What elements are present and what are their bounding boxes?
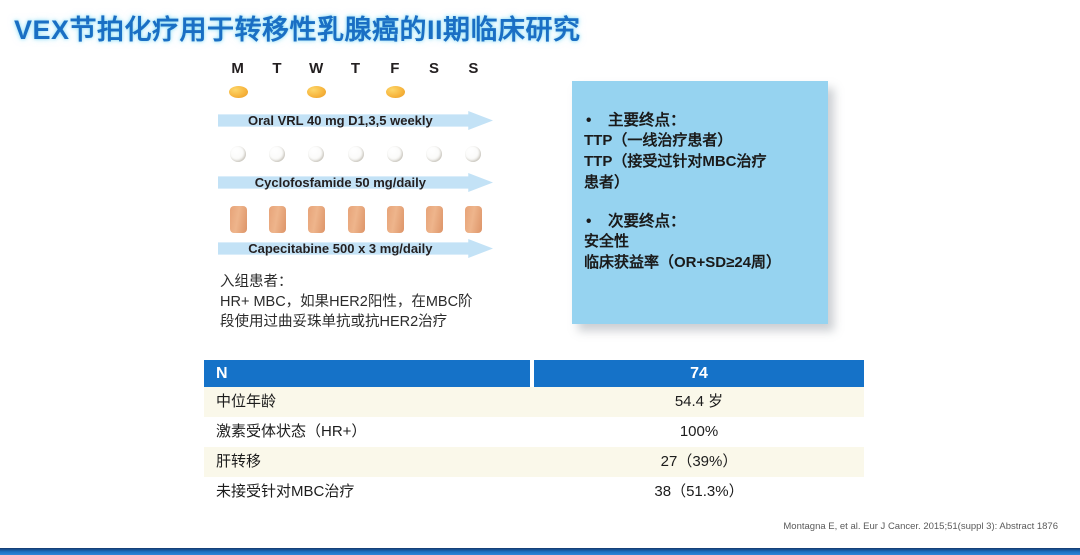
endpoints-callout-box: •主要终点： TTP（一线治疗患者） TTP（接受过针对MBC治疗 患者） •次… (572, 81, 828, 324)
secondary-endpoint-line-2: 临床获益率（OR+SD≥24周） (584, 252, 830, 273)
cyclofosfamide-arrow-bar: Cyclofosfamide 50 mg/daily (218, 173, 493, 192)
primary-endpoints-heading-text: 主要终点： (608, 112, 686, 129)
table-cell-label: 肝转移 (204, 447, 534, 477)
table-body: 中位年龄54.4 岁激素受体状态（HR+）100%肝转移27（39%）未接受针对… (204, 387, 864, 507)
capecitabine-marker-row (218, 206, 493, 236)
table-header-row: N 74 (204, 360, 864, 387)
table-row: 中位年龄54.4 岁 (204, 387, 864, 417)
spacer (218, 130, 493, 144)
secondary-endpoints-heading: •次要终点： (584, 209, 830, 231)
round-pill-icon (230, 146, 246, 162)
oval-pill-icon (229, 86, 248, 98)
citation-text: Montagna E, et al. Eur J Cancer. 2015;51… (783, 521, 1058, 532)
secondary-endpoint-line-1: 安全性 (584, 231, 830, 252)
table-cell-label: 激素受体状态（HR+） (204, 417, 534, 447)
secondary-endpoints-heading-text: 次要终点： (608, 213, 686, 230)
table-header-n: N (204, 360, 530, 387)
table-header-count: 74 (534, 360, 864, 387)
weekday-label: S (461, 60, 485, 77)
eligibility-line-1: HR+ MBC，如果HER2阳性，在MBC阶 (220, 292, 530, 312)
round-pill-icon (387, 146, 403, 162)
tablet-icon (387, 206, 404, 233)
weekday-label: M (226, 60, 250, 77)
table-row: 肝转移27（39%） (204, 447, 864, 477)
capecitabine-drug-label: Capecitabine 500 x 3 mg/daily (218, 239, 463, 258)
tablet-icon (230, 206, 247, 233)
cyclofosfamide-marker-row (218, 144, 493, 170)
tablet-icon (348, 206, 365, 233)
table-cell-value: 27（39%） (534, 447, 864, 477)
table-cell-value: 38（51.3%） (534, 477, 864, 507)
weekday-header-row: MTWTFSS (218, 60, 493, 82)
vrl-marker-row (218, 82, 493, 108)
bullet-icon: • (584, 112, 608, 130)
tablet-icon (426, 206, 443, 233)
spacer (218, 192, 493, 206)
slide-canvas: VEX节拍化疗用于转移性乳腺癌的II期临床研究 MTWTFSS Oral VRL… (0, 0, 1080, 555)
weekday-label: S (422, 60, 446, 77)
patient-characteristics-table: N 74 中位年龄54.4 岁激素受体状态（HR+）100%肝转移27（39%）… (204, 360, 864, 507)
eligibility-line-2: 段使用过曲妥珠单抗或抗HER2治疗 (220, 312, 530, 332)
table-cell-value: 54.4 岁 (534, 387, 864, 417)
weekday-label: T (265, 60, 289, 77)
round-pill-icon (348, 146, 364, 162)
round-pill-icon (308, 146, 324, 162)
vrl-drug-label: Oral VRL 40 mg D1,3,5 weekly (218, 111, 463, 130)
tablet-icon (308, 206, 325, 233)
table-row: 激素受体状态（HR+）100% (204, 417, 864, 447)
primary-endpoints-heading: •主要终点： (584, 108, 824, 130)
round-pill-icon (465, 146, 481, 162)
primary-endpoint-line-3: 患者） (584, 172, 824, 193)
tablet-icon (465, 206, 482, 233)
primary-endpoint-line-1: TTP（一线治疗患者） (584, 130, 824, 151)
capecitabine-arrow-bar: Capecitabine 500 x 3 mg/daily (218, 239, 493, 258)
footer-bar (0, 548, 1080, 555)
weekday-label: W (304, 60, 328, 77)
oval-pill-icon (386, 86, 405, 98)
oval-pill-icon (307, 86, 326, 98)
cyclofosfamide-drug-label: Cyclofosfamide 50 mg/daily (218, 173, 463, 192)
round-pill-icon (426, 146, 442, 162)
weekday-label: T (344, 60, 368, 77)
secondary-endpoints-group: •次要终点： 安全性 临床获益率（OR+SD≥24周） (584, 209, 830, 273)
eligibility-heading: 入组患者： (220, 272, 530, 292)
bullet-icon: • (584, 213, 608, 231)
primary-endpoints-group: •主要终点： TTP（一线治疗患者） TTP（接受过针对MBC治疗 患者） (584, 108, 824, 193)
table-cell-label: 中位年龄 (204, 387, 534, 417)
page-title: VEX节拍化疗用于转移性乳腺癌的II期临床研究 (14, 8, 581, 47)
table-row: 未接受针对MBC治疗38（51.3%） (204, 477, 864, 507)
tablet-icon (269, 206, 286, 233)
weekday-label: F (383, 60, 407, 77)
eligibility-text-block: 入组患者： HR+ MBC，如果HER2阳性，在MBC阶 段使用过曲妥珠单抗或抗… (220, 272, 530, 332)
table-cell-label: 未接受针对MBC治疗 (204, 477, 534, 507)
vrl-arrow-bar: Oral VRL 40 mg D1,3,5 weekly (218, 111, 493, 130)
primary-endpoint-line-2: TTP（接受过针对MBC治疗 (584, 151, 824, 172)
round-pill-icon (269, 146, 285, 162)
dosing-schedule-diagram: MTWTFSS Oral VRL 40 mg D1,3,5 weekly Cyc… (218, 60, 493, 260)
table-cell-value: 100% (534, 417, 864, 447)
